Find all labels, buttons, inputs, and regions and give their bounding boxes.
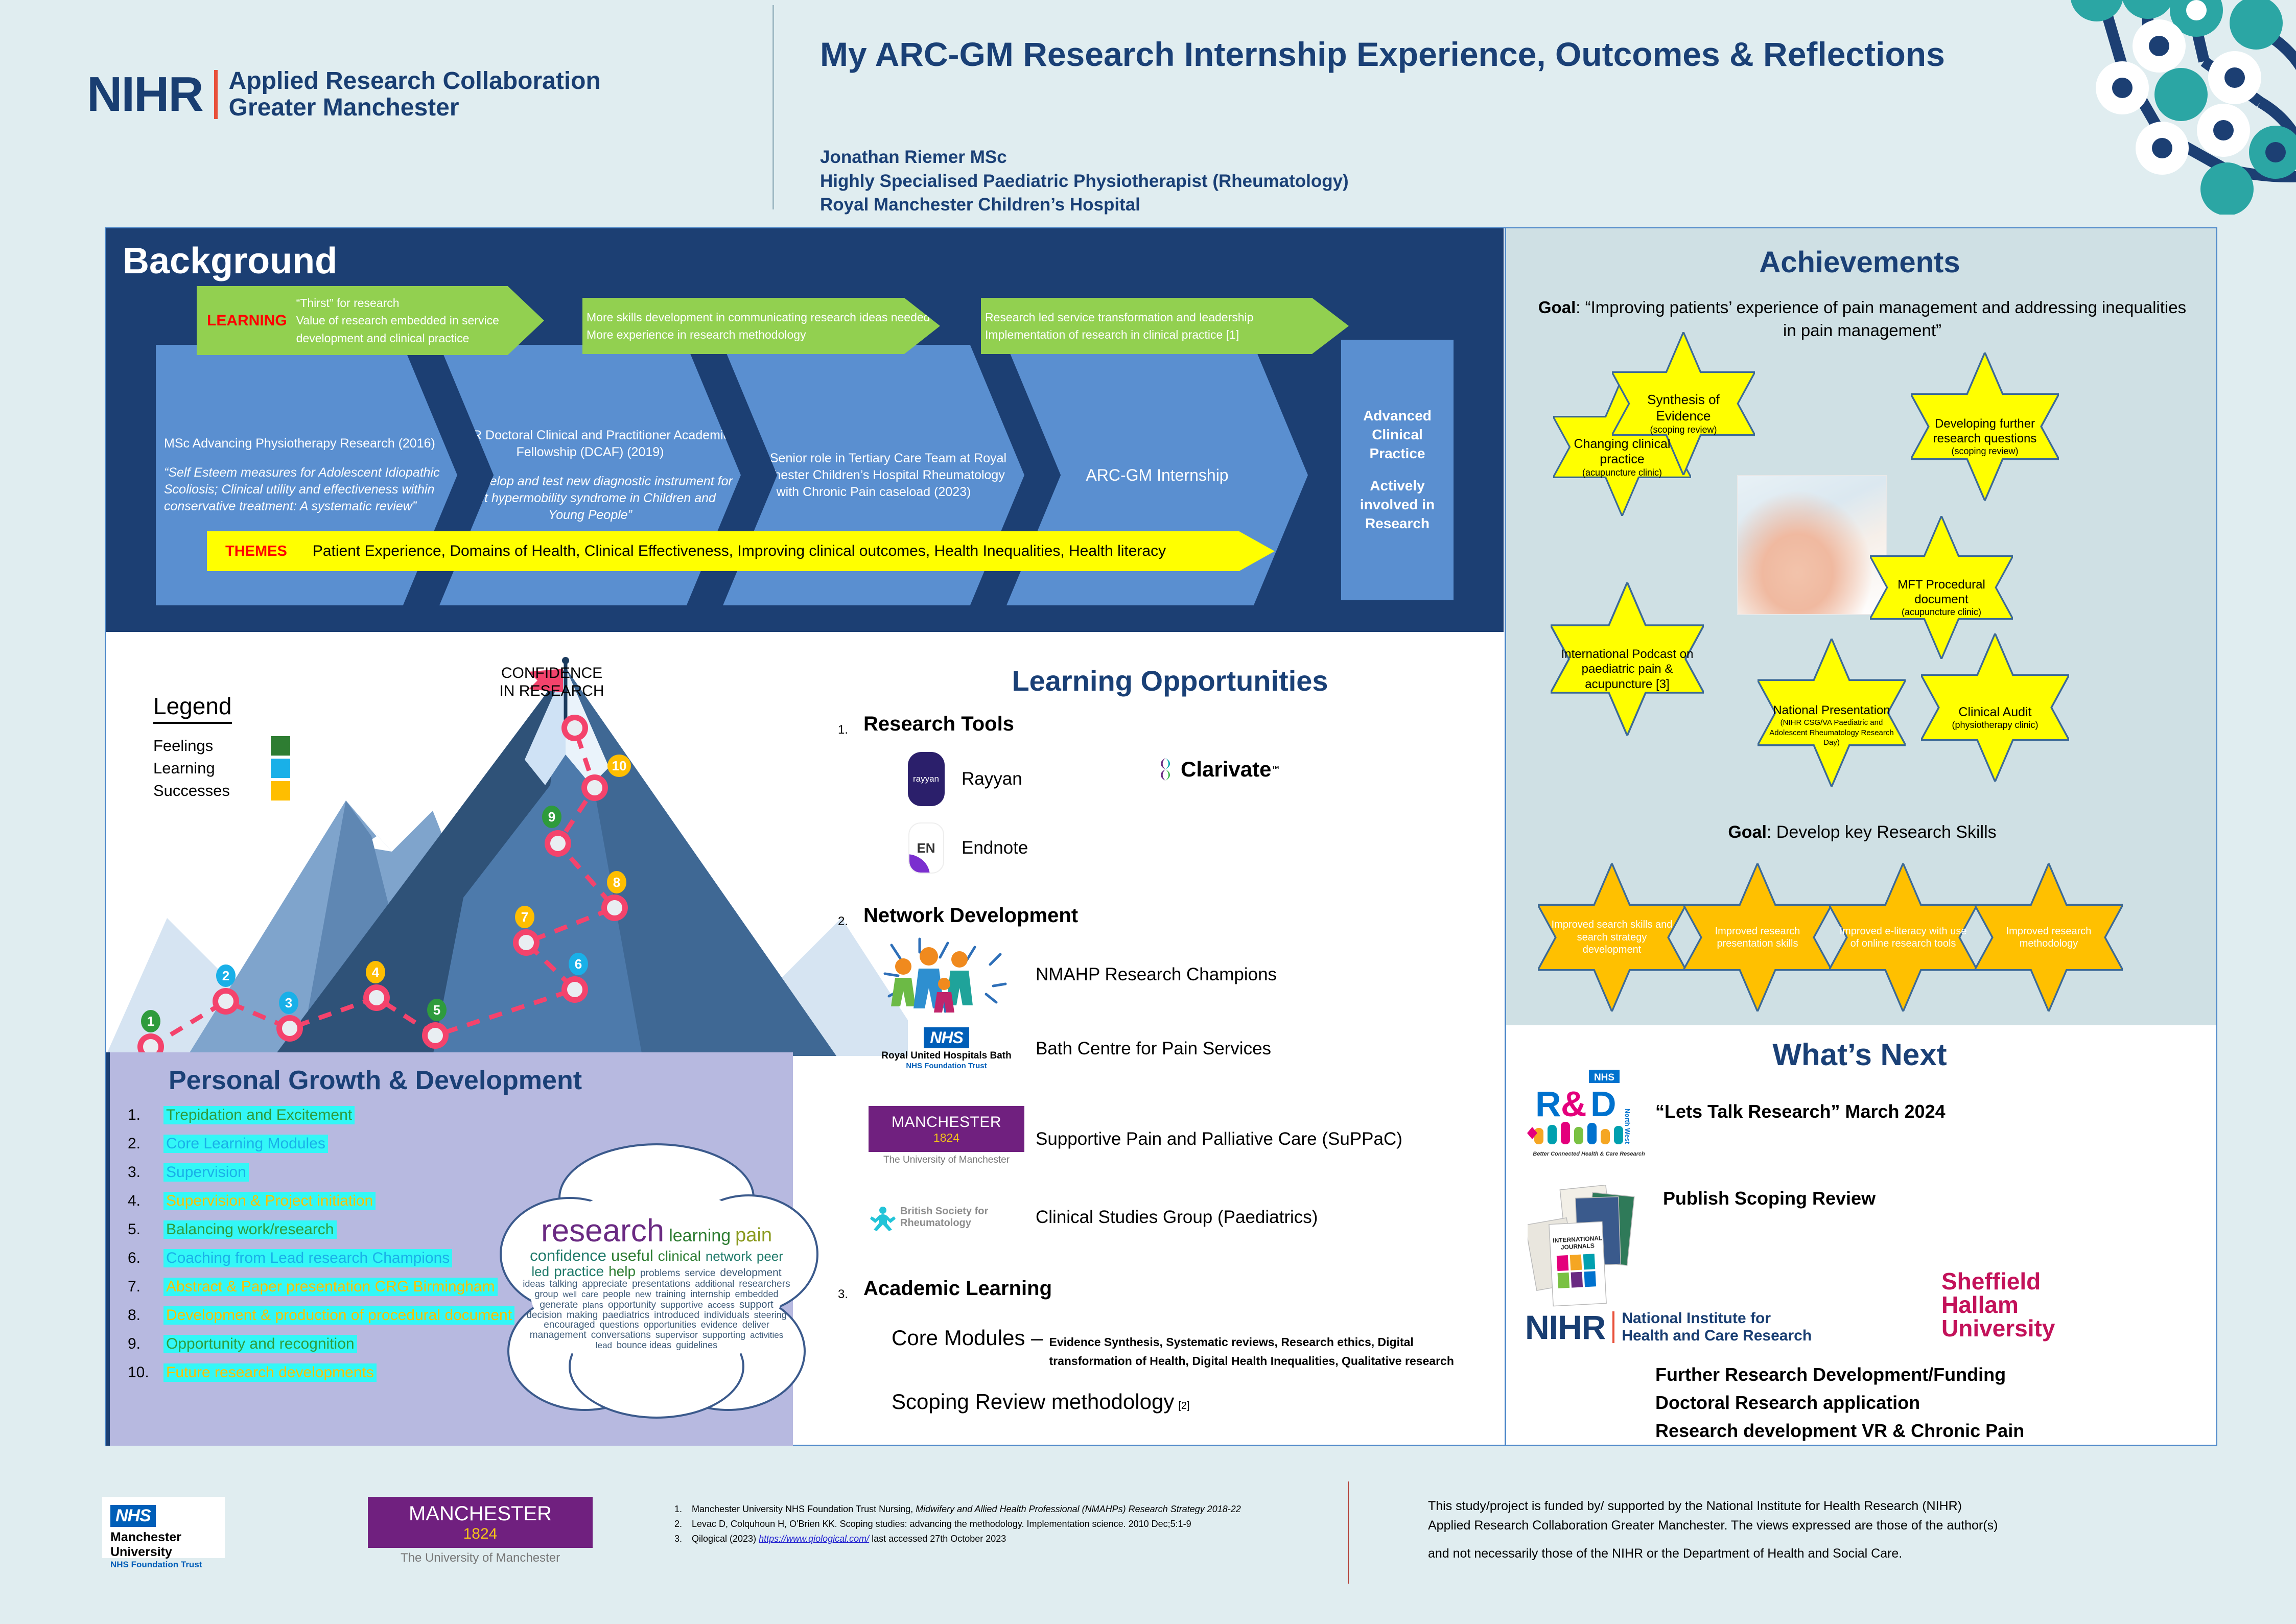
achievement-star-label: National Presentation (NIHR CSG/VA Paedi… [1758,703,1906,748]
word-cloud-word: paediatrics [602,1310,649,1321]
learning-opportunities-section-1-number: 1. [838,723,848,737]
skill-star-research-methodology: Improved research methodology [1975,863,2123,1011]
svg-text:9: 9 [548,809,555,825]
uom-footer-sub: The University of Manchester [368,1551,593,1565]
endnote-logo: EN [902,820,950,876]
uom-sub: The University of Manchester [869,1155,1024,1166]
nihr-small-wordmark: NIHR [1525,1308,1605,1347]
list-item-label: Balancing work/research [163,1220,337,1239]
list-item-label: Future research developments [163,1363,377,1382]
word-cloud-word: opportunity [608,1300,656,1310]
skill-star-label: Improved research methodology [1975,925,2123,950]
achievement-star-label: International Podcast on paediatric pain… [1551,647,1704,692]
word-cloud-word: well [563,1291,577,1300]
scoping-review-ref: [2] [1178,1400,1189,1412]
achievement-star-national-presentation: National Presentation (NIHR CSG/VA Paedi… [1758,639,1906,812]
footer-divider [1348,1481,1349,1584]
word-cloud-word: embedded [735,1289,778,1299]
word-cloud-word: decision [526,1310,562,1321]
word-cloud-word: care [581,1290,598,1299]
learning-arrow-1-line2: Value of research embedded in service [296,314,499,327]
list-item-number: 2. [128,1135,163,1152]
whats-next-bullet-2: Doctoral Research application [1655,1392,1920,1414]
achievement-star-sub: (acupuncture clinic) [1582,467,1662,478]
achievement-star-title: Changing clinical practice [1574,437,1670,467]
legend-label-learning: Learning [153,759,271,778]
word-cloud-word: appreciate [582,1279,627,1289]
rayyan-logo-text: rayyan [908,752,945,806]
list-item-label: Trepidation and Excitement [163,1106,355,1124]
network-row-bath: NHS Royal United Hospitals Bath NHS Foun… [869,1022,1271,1075]
word-cloud-bubble: researchlearningpainconfidenceusefulclin… [493,1137,820,1423]
legend: Legend Feelings Learning Successes [153,692,290,801]
learning-tag: LEARNING [197,312,287,329]
nihr-logo-small: NIHR National Institute for Health and C… [1525,1308,1812,1347]
list-item-number: 6. [128,1250,163,1267]
whats-next-item-1: “Lets Talk Research” March 2024 [1655,1101,1946,1122]
legend-item-learning: Learning [153,759,290,778]
tool-row-endnote: EN Endnote [902,820,1028,876]
list-item-label: Core Learning Modules [163,1135,328,1153]
word-cloud-word: presentations [632,1279,690,1289]
university-of-manchester-logo: MANCHESTER 1824 The University of Manche… [869,1106,1024,1172]
achievement-star-title: Clinical Audit [1958,705,2031,719]
nhs-rd-northwest-logo: NHS R & D North West Better Connected He… [1525,1068,1653,1165]
svg-text:R: R [1535,1084,1561,1124]
uom-footer-wordmark: MANCHESTER [409,1502,552,1525]
network-row-suppac: MANCHESTER 1824 The University of Manche… [869,1106,1402,1172]
summit-label-line2: IN RESEARCH [499,682,604,699]
learning-arrow-1-line1: “Thirst” for research [296,296,400,310]
achievement-star-sub: (scoping review) [1951,446,2018,456]
logo-subtitle-line1: Applied Research Collaboration [229,67,601,95]
learning-arrow-2-text: More skills development in communicating… [582,309,930,344]
svg-text:North West: North West [1624,1109,1631,1144]
ruh-bath-name: Royal United Hospitals Bath [881,1050,1011,1062]
tool-row-clarivate: Clarivate ™ [1152,756,1279,783]
achievement-star-label: Clinical Audit (physiotherapy clinic) [1943,704,2047,731]
svg-text:3: 3 [285,995,292,1010]
word-cloud-word: talking [549,1279,577,1289]
achievements-goal-2-label: Goal [1728,822,1767,842]
nihr-small-sub2: Health and Care Research [1622,1327,1812,1344]
word-cloud-word: support [739,1300,774,1310]
timeline-chevron-1-quote: “Self Esteem measures for Adolescent Idi… [164,464,449,515]
learning-opportunities-section-2-number: 2. [838,914,848,929]
word-cloud-word: generate [540,1300,578,1310]
nihr-wordmark: NIHR [87,70,203,119]
funding-line-3: and not necessarily those of the NIHR or… [1428,1544,2205,1564]
word-cloud-word: ideas [523,1279,545,1289]
svg-text:6: 6 [575,956,582,972]
word-cloud-word: activities [750,1331,783,1340]
achievement-star-clinical-audit: Clinical Audit (physiotherapy clinic) [1921,633,2069,802]
word-cloud-word: new [635,1290,651,1299]
clarivate-mark [1152,756,1179,783]
legend-label-successes: Successes [153,782,271,800]
reference-link[interactable]: https://www.qiological.com/ [759,1534,869,1544]
achievement-star-sub: (physiotherapy clinic) [1952,720,2038,730]
skill-star-presentation-skills: Improved research presentation skills [1683,863,1832,1011]
list-item-label: Supervision [163,1163,249,1182]
achievement-star-title: International Podcast on paediatric pain… [1561,647,1694,691]
svg-text:&: & [1561,1084,1587,1124]
svg-text:1: 1 [147,1014,154,1029]
timeline-chevron-1-title: MSc Advancing Physiotherapy Research (20… [164,435,449,452]
logo-subtitle-line2: Greater Manchester [229,94,459,121]
reference-text: Levac D, Colquhoun H, O'Brien KK. Scopin… [692,1517,1191,1532]
achievement-star-sub: (acupuncture clinic) [1902,607,1981,617]
uom-wordmark: MANCHESTER [892,1114,1001,1131]
svg-text:8: 8 [613,875,620,890]
skill-star-label: Improved e-literacy with use of online r… [1829,925,1977,950]
university-of-manchester-logo-footer: MANCHESTER 1824 The University of Manche… [368,1497,598,1573]
network-row-nmahp: NMAHP Research Champions [869,935,1277,1014]
word-cloud-word: training [655,1289,686,1299]
word-cloud-word: encouraged [544,1320,595,1330]
author-name: Jonathan Riemer MSc [820,146,1995,170]
list-item-number: 7. [128,1278,163,1296]
word-cloud-word: making [567,1310,598,1321]
legend-item-feelings: Feelings [153,736,290,756]
list-item-number: 5. [128,1221,163,1238]
word-cloud-word: people [603,1289,630,1299]
header-divider [772,5,774,209]
word-cloud-word: introduced [654,1310,699,1321]
nihr-small-sub1: National Institute for [1622,1310,1771,1327]
word-cloud-word: guidelines [676,1340,717,1350]
list-item-number: 9. [128,1335,163,1353]
learning-opportunities-section-2-title: Network Development [863,904,1078,927]
word-cloud-word: clinical [658,1249,701,1263]
timeline-endbox: Advanced Clinical Practice Actively invo… [1341,340,1454,600]
tool-row-rayyan: rayyan Rayyan [902,748,1022,810]
word-cloud: researchlearningpainconfidenceusefulclin… [521,1172,792,1392]
list-item-number: 3. [128,1164,163,1181]
uom-year: 1824 [933,1131,959,1145]
clarivate-logo: Clarivate ™ [1152,756,1279,783]
core-modules-text: Evidence Synthesis, Systematic reviews, … [1049,1326,1464,1371]
word-cloud-word: additional [695,1279,734,1289]
learning-arrow-3-line1: Research led service transformation and … [985,311,1253,324]
word-cloud-word: opportunities [644,1320,696,1330]
word-cloud-word: service [685,1268,715,1279]
funding-line-2: Applied Research Collaboration Greater M… [1428,1516,2205,1536]
whats-next-bullet-1: Further Research Development/Funding [1655,1364,2006,1385]
word-cloud-word: confidence [530,1248,606,1264]
word-cloud-word: learning [669,1227,731,1245]
whats-next-heading: What’s Next [1505,1037,2215,1072]
learning-arrow-1-line3: development and clinical practice [296,332,470,345]
sheffield-hallam-line2: Hallam [1941,1293,2055,1316]
funding-line-1: This study/project is funded by/ support… [1428,1497,2205,1516]
acupuncture-photo [1737,475,1887,615]
reference-plain-2: last accessed 27th October 2023 [869,1534,1006,1544]
sheffield-hallam-line3: University [1941,1316,2055,1340]
word-cloud-word: deliver [742,1320,769,1330]
legend-label-feelings: Feelings [153,737,271,755]
achievement-star-label: Synthesis of Evidence (scoping review) [1612,392,1755,435]
clarivate-logo-text: Clarivate [1181,757,1271,782]
learning-arrow-1: LEARNING “Thirst” for research Value of … [197,286,544,355]
whats-next-bullet-3: Research development VR & Chronic Pain [1655,1420,2024,1442]
summit-label: CONFIDENCE IN RESEARCH [455,664,649,700]
endnote-logo-text: EN [917,840,935,856]
tool-label-endnote: Endnote [962,838,1028,858]
word-cloud-word: individuals [704,1310,749,1321]
word-cloud-word: development [720,1267,781,1279]
bsr-line2: Rheumatology [900,1217,971,1229]
achievement-star-title: MFT Procedural document [1897,578,1985,606]
reference-text: Qilogical (2023) https://www.qiological.… [692,1532,1006,1546]
personal-growth-heading: Personal Growth & Development [169,1065,582,1096]
svg-text:2: 2 [222,968,229,983]
achievement-star-sub: (scoping review) [1650,425,1717,435]
legend-item-successes: Successes [153,781,290,801]
list-item-label: Development & production of procedural d… [163,1306,514,1325]
achievements-heading: Achievements [1505,245,2215,279]
learning-arrow-3: Research led service transformation and … [981,298,1349,354]
achievement-star-title: Synthesis of Evidence [1647,392,1720,423]
word-cloud-word: access [708,1301,735,1310]
learning-arrow-2-line2: More experience in research methodology [587,328,806,341]
mft-line1: Manchester University [110,1530,225,1560]
learning-arrow-1-text: “Thirst” for research Value of research … [287,294,499,347]
word-cloud-word: useful [611,1248,653,1264]
reference-item: 2. Levac D, Colquhoun H, O'Brien KK. Sco… [674,1517,1339,1532]
nihr-small-divider [1612,1311,1614,1343]
word-cloud-word: plans [582,1301,603,1310]
achievement-star-sub: (NIHR CSG/VA Paediatric and Adolescent R… [1769,718,1893,747]
word-cloud-word: steering [754,1310,787,1320]
mft-line2: NHS Foundation Trust [110,1560,225,1570]
word-cloud-word: management [530,1330,587,1340]
learning-opportunities-section-3-number: 3. [838,1287,848,1302]
network-label-bath: Bath Centre for Pain Services [1036,1039,1271,1059]
reference-item: 3. Qilogical (2023) https://www.qiologic… [674,1532,1339,1546]
nhs-manchester-university-logo: NHS Manchester University NHS Foundation… [102,1497,225,1558]
journals-image: INTERNATIONAL JOURNALS [1528,1185,1640,1313]
svg-text:5: 5 [433,1002,440,1018]
network-label-nmahp: NMAHP Research Champions [1036,964,1277,985]
achievement-star-developing-further-research-questions: Developing further research questions (s… [1911,352,2059,521]
word-cloud-word: supervisor [655,1330,698,1340]
timeline-endbox-line2: Actively involved in Research [1349,477,1445,533]
legend-swatch-feelings [271,736,290,756]
list-item-number: 4. [128,1192,163,1210]
word-cloud-word: help [608,1264,636,1279]
author-role: Highly Specialised Paediatric Physiother… [820,170,1995,194]
word-cloud-word: researchers [739,1279,790,1289]
sheffield-hallam-line1: Sheffield [1941,1269,2055,1293]
list-item-number: 8. [128,1307,163,1324]
learning-opportunities-section-1-title: Research Tools [863,713,1014,736]
skill-star-search-skills: Improved search skills and search strate… [1538,863,1686,1011]
themes-text: Patient Experience, Domains of Health, C… [287,543,1166,560]
skill-star-e-literacy: Improved e-literacy with use of online r… [1829,863,1977,1011]
word-cloud-word: internship [690,1289,730,1299]
summit-label-line1: CONFIDENCE [501,665,602,681]
reference-number: 1. [674,1502,692,1517]
decorative-network-graphic [2020,0,2296,215]
svg-text:NHS: NHS [1594,1072,1614,1083]
word-cloud-word: network [706,1250,752,1263]
network-label-bsr: Clinical Studies Group (Paediatrics) [1036,1207,1318,1228]
clarivate-tm: ™ [1271,765,1279,774]
learning-arrow-3-line2: Implementation of research in clinical p… [985,328,1239,341]
reference-number: 3. [674,1532,692,1546]
network-label-suppac: Supportive Pain and Palliative Care (SuP… [1036,1129,1402,1149]
reference-text: Manchester University NHS Foundation Tru… [692,1502,1241,1517]
achievement-star-label: Changing clinical practice (acupuncture … [1553,436,1691,479]
learning-arrow-3-text: Research led service transformation and … [981,309,1253,344]
list-item-label: Coaching from Lead research Champions [163,1249,452,1267]
bsr-logo: British Society for Rheumatology [869,1198,1024,1236]
achievement-star-international-podcast: International Podcast on paediatric pain… [1551,582,1704,756]
nihr-arc-gm-logo: NIHR Applied Research Collaboration Grea… [87,61,746,128]
word-cloud-word: research [541,1214,664,1248]
reference-plain: Manchester University NHS Foundation Tru… [692,1504,916,1514]
word-cloud-word: peer [757,1250,783,1263]
page-title: My ARC-GM Research Internship Experience… [820,36,1995,74]
achievements-goal-1-label: Goal [1538,298,1576,317]
svg-text:10: 10 [612,758,627,773]
word-cloud-word: supporting [702,1330,745,1340]
reference-item: 1. Manchester University NHS Foundation … [674,1502,1339,1517]
ruh-bath-logo: NHS Royal United Hospitals Bath NHS Foun… [869,1022,1024,1075]
list-item-label: Opportunity and recognition [163,1335,357,1353]
tool-label-rayyan: Rayyan [962,769,1022,789]
word-cloud-word: conversations [591,1330,651,1340]
word-cloud-word: lead [596,1341,612,1350]
list-item-number: 10. [128,1364,163,1381]
author-organisation: Royal Manchester Children’s Hospital [820,193,1995,217]
svg-text:D: D [1590,1084,1616,1124]
scoping-review-label: Scoping Review methodology [892,1390,1174,1414]
timeline-endbox-line1: Advanced Clinical Practice [1349,407,1445,463]
word-cloud-word: questions [600,1320,639,1330]
skill-star-label: Improved research presentation skills [1683,925,1832,950]
background-heading: Background [123,240,337,282]
achievement-star-title: Developing further research questions [1933,417,2037,445]
legend-title: Legend [153,692,232,724]
learning-opportunities-heading: Learning Opportunities [966,664,1374,697]
sheffield-hallam-logo: Sheffield Hallam University [1941,1269,2055,1340]
themes-arrow: THEMES Patient Experience, Domains of He… [207,531,1275,571]
skill-star-label: Improved search skills and search strate… [1538,919,1686,956]
core-modules-row: Core Modules – Evidence Synthesis, Syste… [892,1326,1464,1371]
word-cloud-word: bounce ideas [617,1340,671,1350]
achievement-star-label: MFT Procedural document (acupuncture cli… [1870,577,2013,618]
logo-subtitle: Applied Research Collaboration Greater M… [229,68,601,121]
ruh-bath-sub: NHS Foundation Trust [906,1062,987,1070]
svg-text:7: 7 [521,909,528,925]
nmahp-logo [869,935,1024,1014]
logo-divider-bar [214,70,218,119]
reference-plain: Qilogical (2023) [692,1534,759,1544]
timeline-chevron-4-title: ARC-GM Internship [1086,464,1228,486]
author-block: Jonathan Riemer MSc Highly Specialised P… [820,146,1995,217]
word-cloud-word: problems [640,1268,680,1279]
uom-footer-year: 1824 [463,1525,498,1543]
achievements-goal-2-text: : Develop key Research Skills [1767,822,1997,842]
list-item: 1.Trepidation and Excitement [128,1106,731,1124]
word-cloud-word: practice [554,1264,604,1279]
network-row-bsr: British Society for Rheumatology Clinica… [869,1198,1318,1236]
list-item-number: 1. [128,1107,163,1124]
learning-arrow-2: More skills development in communicating… [582,298,940,354]
learning-opportunities-section-3-title: Academic Learning [863,1277,1052,1300]
core-modules-label: Core Modules – [892,1326,1043,1350]
svg-text:Better Connected Health & Care: Better Connected Health & Care Research [1533,1151,1645,1157]
whats-next-item-2: Publish Scoping Review [1663,1188,1876,1209]
achievement-star-title: National Presentation [1773,703,1890,717]
scoping-review-row: Scoping Review methodology [2] [892,1390,1190,1414]
word-cloud-word: pain [735,1226,772,1246]
achievement-star-label: Developing further research questions (s… [1911,416,2059,457]
reference-italic: Midwifery and Allied Health Professional… [916,1504,1241,1514]
reference-number: 2. [674,1517,692,1532]
bsr-mark [869,1203,897,1232]
timeline-chevron-2-title: NIHR Doctoral Clinical and Practitioner … [448,427,733,461]
learning-arrow-2-line1: More skills development in communicating… [587,311,930,324]
word-cloud-word: group [534,1289,558,1299]
list-item-label: Supervision & Project initiation [163,1192,376,1210]
achievements-goal-2: Goal: Develop key Research Skills [1528,822,2197,842]
legend-swatch-successes [271,781,290,801]
list-item-label: Abstract & Paper presentation CRG Birmin… [163,1278,498,1296]
word-cloud-word: evidence [701,1320,738,1330]
themes-label: THEMES [207,543,287,560]
word-cloud-word: supportive [661,1300,703,1310]
word-cloud-word: led [531,1265,549,1279]
references-list: 1. Manchester University NHS Foundation … [674,1502,1339,1546]
svg-text:4: 4 [372,964,380,980]
bsr-line1: British Society for [900,1206,988,1217]
rayyan-logo: rayyan [902,748,950,810]
nhs-wordmark-footer: NHS [110,1505,156,1527]
funding-statement: This study/project is funded by/ support… [1428,1497,2205,1564]
nhs-wordmark: NHS [924,1027,969,1048]
legend-swatch-learning [271,759,290,778]
